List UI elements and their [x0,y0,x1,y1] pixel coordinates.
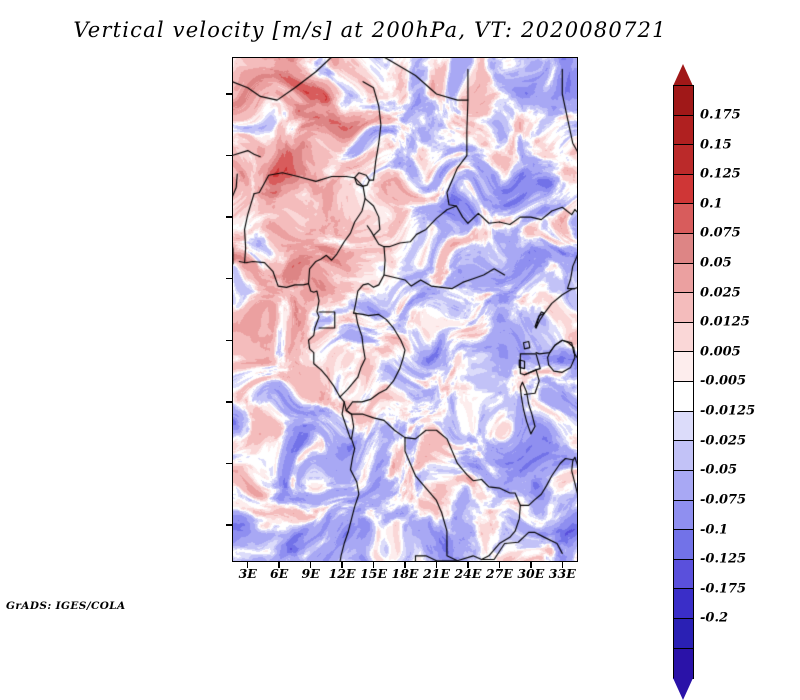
colorbar-tick-label: -0.0125 [700,404,755,419]
colorbar-tick-label: 0.1 [700,196,723,211]
colorbar-tick-label: -0.175 [700,581,746,596]
colorbar-tick-label: -0.125 [700,552,746,567]
colorbar-swatch: -0.125 [673,529,694,560]
colorbar-tick-label: 0.125 [700,167,741,182]
x-axis-label: 33E [539,566,585,581]
colorbar-tick-label: 0.175 [700,108,741,123]
grads-credit: GrADS: IGES/COLA [6,600,126,612]
y-tick [226,463,232,465]
page-title: Vertical velocity [m/s] at 200hPa, VT: 2… [0,18,740,42]
y-tick [226,155,232,157]
colorbar-swatch: -0.075 [673,470,694,501]
colorbar-swatch: 0.1 [673,174,694,205]
vertical-velocity-heatmap [232,57,578,562]
colorbar-tick-label: -0.05 [700,463,737,478]
y-tick [226,401,232,403]
colorbar: 0.1750.150.1250.10.0750.050.0250.01250.0… [673,85,694,677]
colorbar-swatch: -0.025 [673,411,694,442]
colorbar-bottom-arrow [673,678,693,700]
colorbar-tick-label: -0.075 [700,492,746,507]
colorbar-tick-label: 0.025 [700,285,741,300]
colorbar-swatch: -0.2 [673,588,694,619]
y-tick [226,524,232,526]
colorbar-tick-label: -0.1 [700,522,728,537]
y-tick [226,340,232,342]
colorbar-tick-label: -0.025 [700,433,746,448]
colorbar-swatch: 0.075 [673,203,694,234]
colorbar-swatch: 0.005 [673,322,694,353]
colorbar-swatch: -0.005 [673,351,694,382]
colorbar-swatch: -0.0125 [673,381,694,412]
colorbar-top-arrow [673,64,693,86]
colorbar-swatch: 0.025 [673,263,694,294]
colorbar-swatch [673,648,694,679]
colorbar-tick-label: 0.075 [700,226,741,241]
y-tick [226,278,232,280]
colorbar-tick-label: -0.005 [700,374,746,389]
colorbar-swatch: 0.15 [673,115,694,146]
colorbar-swatch: 0.175 [673,85,694,116]
colorbar-swatch: -0.175 [673,559,694,590]
colorbar-tick-label: 0.05 [700,256,732,271]
colorbar-swatch: -0.05 [673,440,694,471]
colorbar-swatch: -0.1 [673,500,694,531]
colorbar-swatch: 0.0125 [673,292,694,323]
colorbar-swatch: 0.125 [673,144,694,175]
colorbar-tick-label: 0.15 [700,137,732,152]
colorbar-tick-label: 0.005 [700,344,741,359]
colorbar-swatch [673,618,694,649]
colorbar-swatch: 0.05 [673,233,694,264]
colorbar-tick-label: -0.2 [700,611,728,626]
y-tick [226,93,232,95]
map-plot-area [232,57,578,562]
colorbar-tick-label: 0.0125 [700,315,750,330]
y-tick [226,216,232,218]
